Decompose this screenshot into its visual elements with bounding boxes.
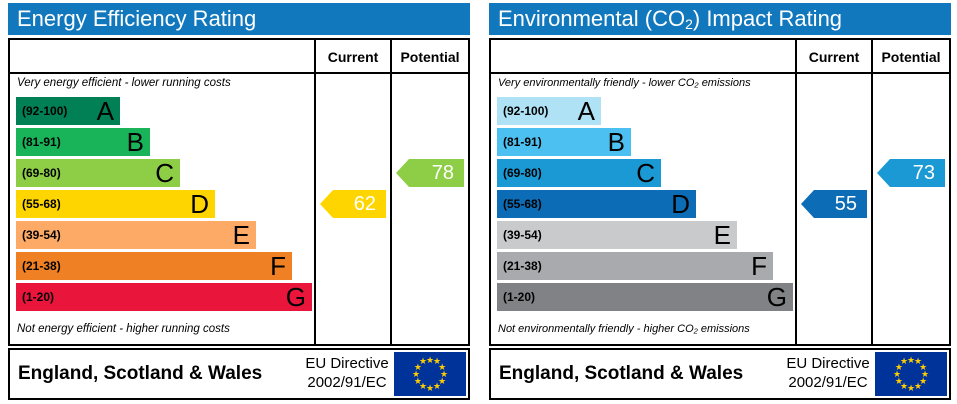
band-bar-g: (1-20)G — [16, 283, 312, 311]
energy-efficiency-grid: Current Potential Very energy efficient … — [8, 38, 470, 346]
band-letter-e: E — [714, 221, 731, 249]
epc-charts-container: Energy Efficiency Rating Current Potenti… — [0, 0, 957, 404]
band-range-e: (39-54) — [503, 221, 542, 249]
eu-flag-icon: ★★★★★★★★★★★★ — [394, 352, 466, 396]
environmental-impact-panel: Environmental (CO2) Impact Rating Curren… — [484, 0, 955, 404]
band-letter-f: F — [751, 252, 767, 280]
band-bar-f: (21-38)F — [497, 252, 773, 280]
band-letter-c: C — [155, 159, 174, 187]
band-range-f: (21-38) — [22, 252, 61, 280]
energy-column-divider-1 — [314, 40, 316, 344]
band-bar-g: (1-20)G — [497, 283, 793, 311]
band-range-a: (92-100) — [22, 97, 67, 125]
band-range-b: (81-91) — [22, 128, 61, 156]
co2-potential-value-arrow: 73 — [877, 159, 945, 187]
band-letter-a: A — [97, 97, 114, 125]
energy-efficiency-panel: Energy Efficiency Rating Current Potenti… — [3, 0, 474, 404]
band-bar-c: (69-80)C — [497, 159, 661, 187]
energy-current-value: 62 — [354, 193, 376, 215]
eu-flag-icon: ★★★★★★★★★★★★ — [875, 352, 947, 396]
energy-potential-value: 78 — [432, 162, 454, 184]
co2-footer: England, Scotland & Wales EU Directive 2… — [489, 348, 951, 400]
co2-directive-line1: EU Directive — [769, 354, 887, 373]
co2-column-divider-2 — [871, 40, 873, 344]
energy-footer: England, Scotland & Wales EU Directive 2… — [8, 348, 470, 400]
band-range-g: (1-20) — [503, 283, 535, 311]
band-bar-c: (69-80)C — [16, 159, 180, 187]
band-bar-a: (92-100)A — [16, 97, 120, 125]
energy-footer-region: England, Scotland & Wales — [18, 350, 262, 398]
band-range-c: (69-80) — [503, 159, 542, 187]
band-letter-a: A — [578, 97, 595, 125]
co2-caption-bottom: Not environmentally friendly - higher CO… — [498, 323, 794, 335]
band-range-f: (21-38) — [503, 252, 542, 280]
band-letter-f: F — [270, 252, 286, 280]
co2-potential-value: 73 — [913, 162, 935, 184]
energy-efficiency-title: Energy Efficiency Rating — [8, 3, 470, 35]
energy-column-divider-2 — [390, 40, 392, 344]
energy-header-current: Current — [316, 40, 390, 74]
energy-header-potential: Potential — [392, 40, 468, 74]
environmental-title-part1: Environmental (CO — [498, 6, 685, 31]
band-range-d: (55-68) — [22, 190, 61, 218]
co2-footer-region: England, Scotland & Wales — [499, 350, 743, 398]
band-bar-e: (39-54)E — [16, 221, 256, 249]
energy-efficiency-title-text: Energy Efficiency Rating — [17, 6, 256, 31]
co2-column-divider-1 — [795, 40, 797, 344]
energy-footer-directive: EU Directive 2002/91/EC — [288, 354, 406, 392]
energy-caption-top: Very energy efficient - lower running co… — [17, 77, 309, 89]
band-letter-g: G — [767, 283, 787, 311]
energy-caption-bottom: Not energy efficient - higher running co… — [17, 323, 309, 335]
energy-current-value-arrow: 62 — [320, 190, 386, 218]
co2-band-bars: (92-100)A(81-91)B(69-80)C(55-68)D(39-54)… — [497, 97, 793, 319]
environmental-impact-title: Environmental (CO2) Impact Rating — [489, 3, 951, 35]
environmental-title-part2: ) Impact Rating — [693, 6, 842, 31]
energy-directive-line1: EU Directive — [288, 354, 406, 373]
band-bar-f: (21-38)F — [16, 252, 292, 280]
environmental-impact-grid: Current Potential Very environmentally f… — [489, 38, 951, 346]
band-range-a: (92-100) — [503, 97, 548, 125]
co2-header-current: Current — [797, 40, 871, 74]
band-bar-d: (55-68)D — [16, 190, 215, 218]
co2-header-potential: Potential — [873, 40, 949, 74]
co2-directive-line2: 2002/91/EC — [769, 373, 887, 392]
eu-star-icon: ★ — [900, 357, 909, 366]
band-letter-c: C — [636, 159, 655, 187]
band-bar-b: (81-91)B — [497, 128, 631, 156]
band-bar-a: (92-100)A — [497, 97, 601, 125]
co2-current-value-arrow: 55 — [801, 190, 867, 218]
environmental-title-subscript: 2 — [685, 16, 693, 32]
band-range-b: (81-91) — [503, 128, 542, 156]
co2-current-value: 55 — [835, 193, 857, 215]
energy-band-bars: (92-100)A(81-91)B(69-80)C(55-68)D(39-54)… — [16, 97, 312, 319]
band-letter-g: G — [286, 283, 306, 311]
band-range-d: (55-68) — [503, 190, 542, 218]
band-range-c: (69-80) — [22, 159, 61, 187]
co2-caption-top: Very environmentally friendly - lower CO… — [498, 77, 794, 89]
energy-directive-line2: 2002/91/EC — [288, 373, 406, 392]
band-range-g: (1-20) — [22, 283, 54, 311]
band-letter-d: D — [671, 190, 690, 218]
band-letter-b: B — [608, 128, 625, 156]
band-bar-e: (39-54)E — [497, 221, 737, 249]
band-letter-e: E — [233, 221, 250, 249]
energy-potential-value-arrow: 78 — [396, 159, 464, 187]
band-letter-b: B — [127, 128, 144, 156]
band-range-e: (39-54) — [22, 221, 61, 249]
band-bar-b: (81-91)B — [16, 128, 150, 156]
band-bar-d: (55-68)D — [497, 190, 696, 218]
eu-star-icon: ★ — [419, 357, 428, 366]
co2-footer-directive: EU Directive 2002/91/EC — [769, 354, 887, 392]
band-letter-d: D — [190, 190, 209, 218]
